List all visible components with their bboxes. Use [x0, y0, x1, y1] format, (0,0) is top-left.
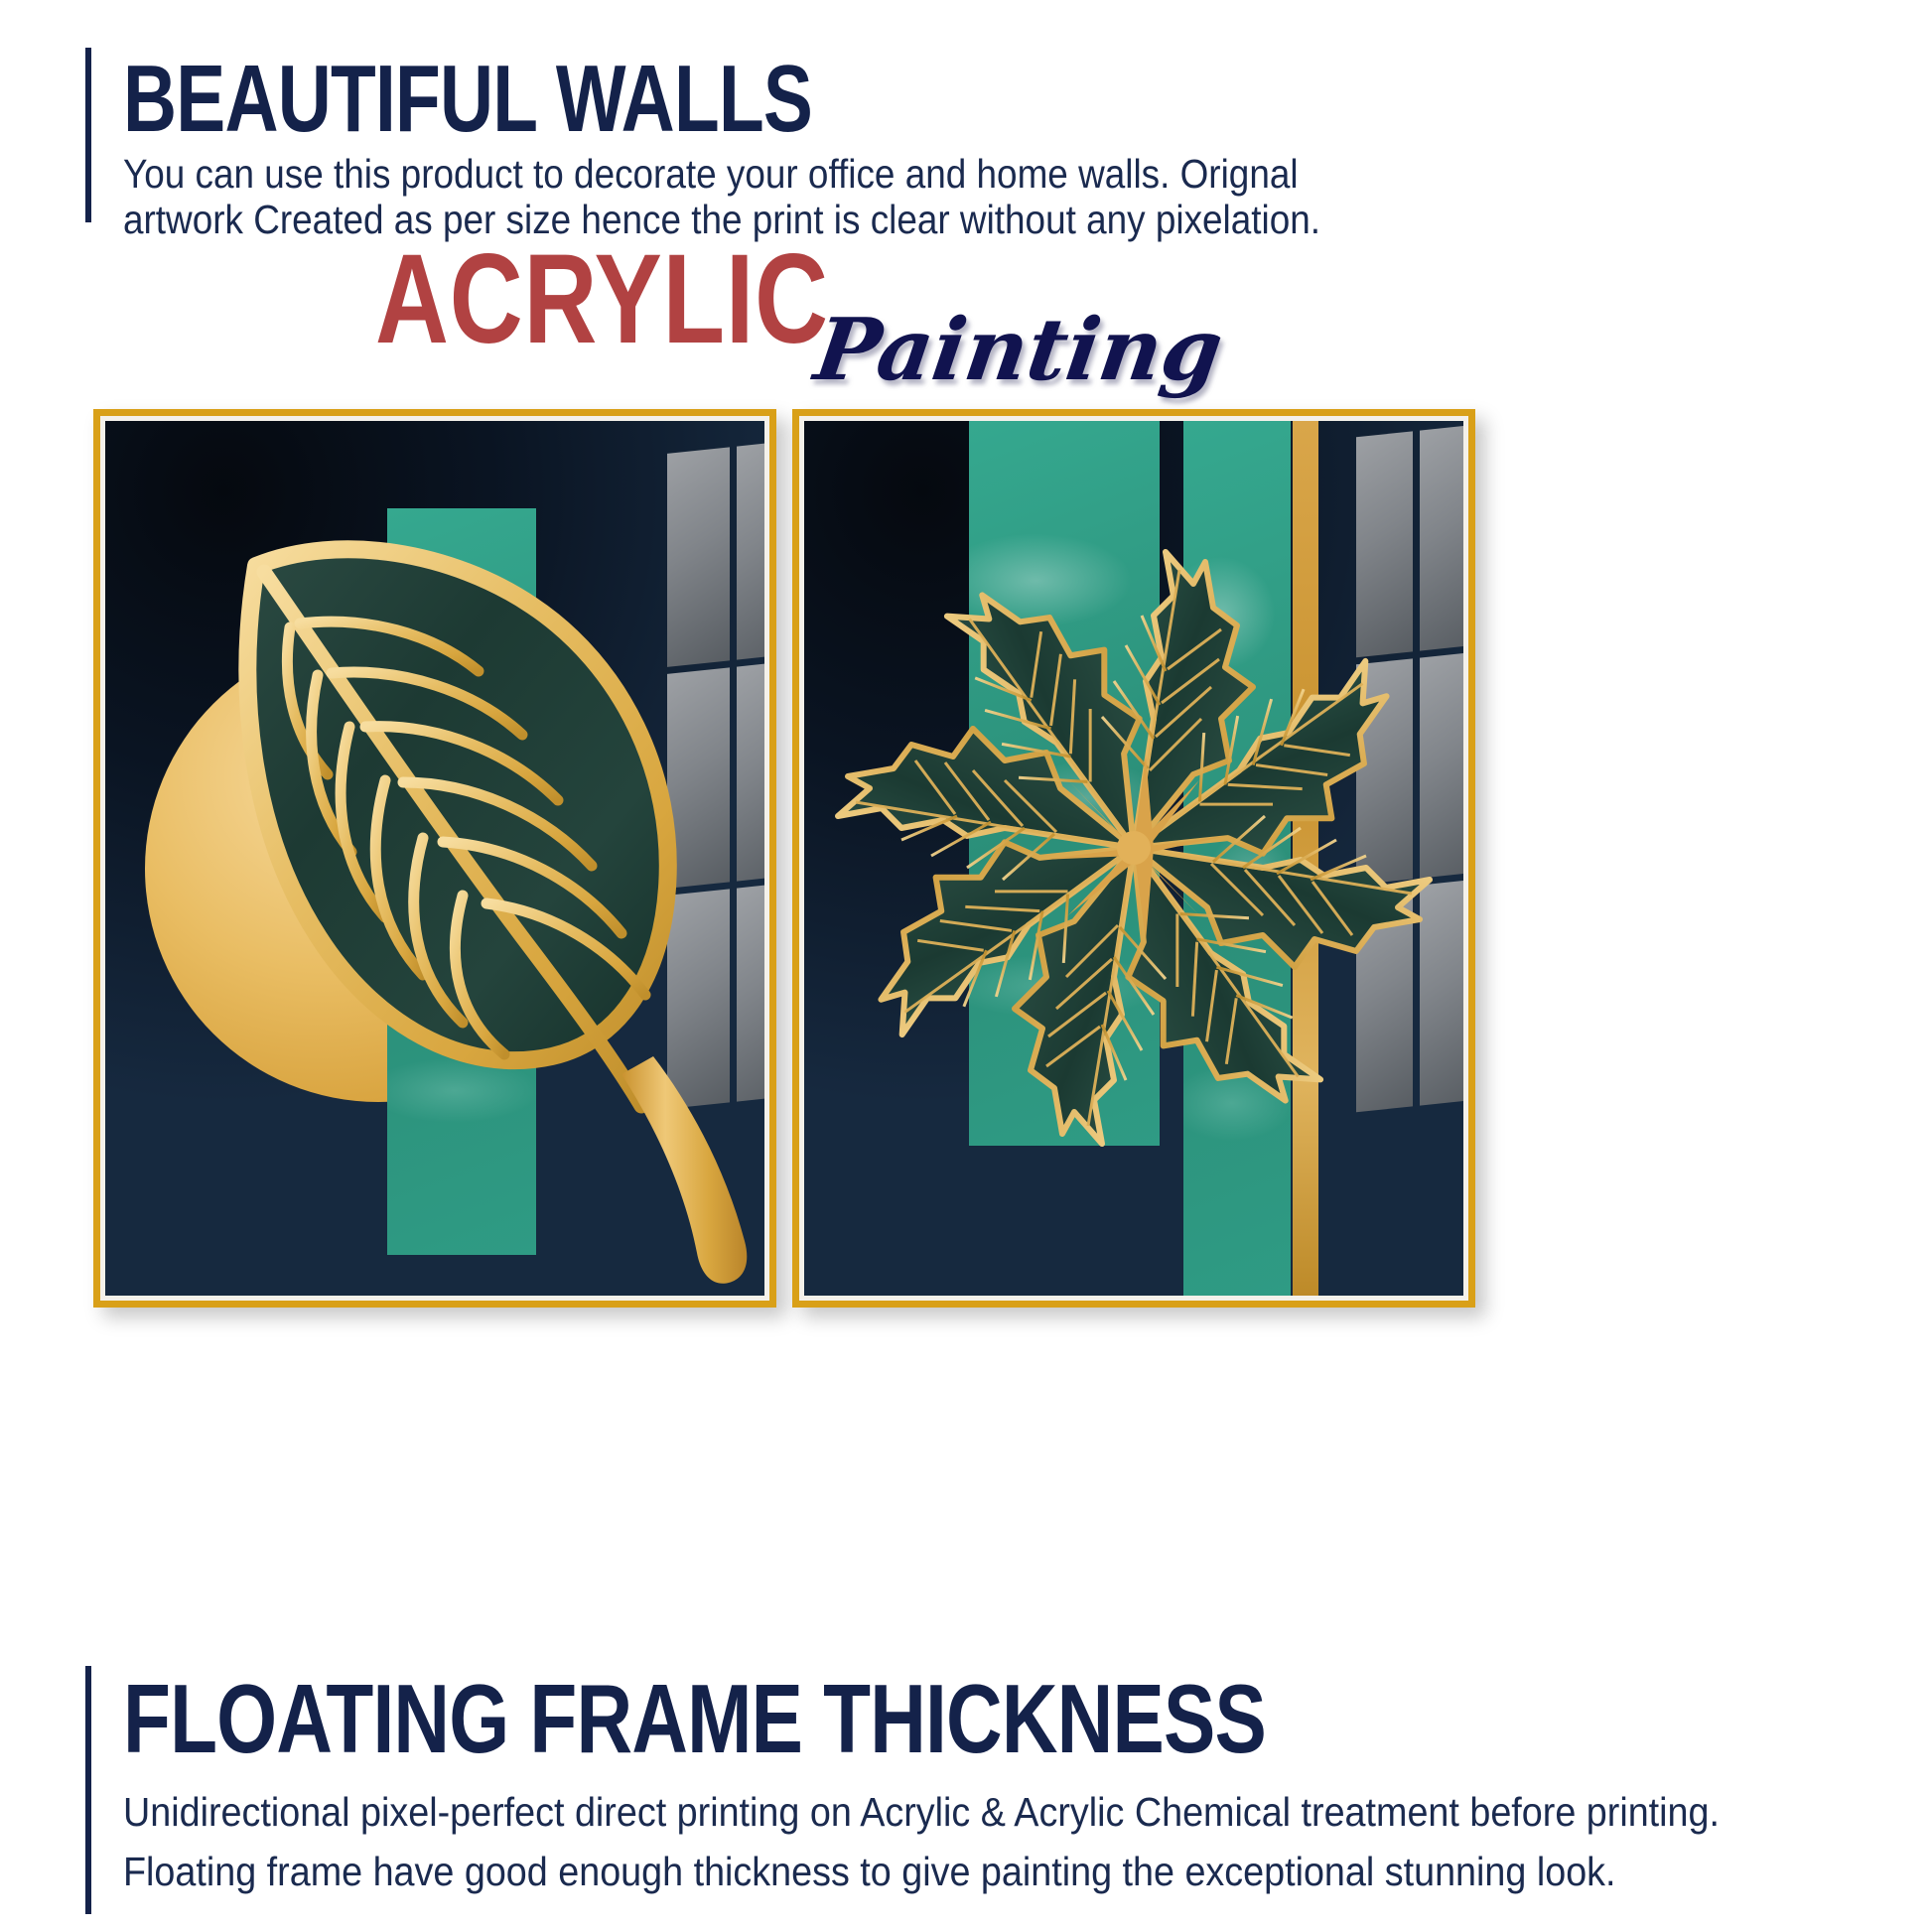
canvas-right: [804, 421, 1463, 1296]
artwork-row: [0, 409, 1932, 1308]
flower-center-starburst: [1040, 755, 1227, 941]
bottom-accent-rule: [85, 1666, 91, 1914]
leaf-stem: [621, 1056, 747, 1284]
bottom-description-line-2: Floating frame have good enough thicknes…: [123, 1849, 1548, 1894]
canvas-left: [105, 421, 764, 1296]
frame-float-gap-right: [799, 416, 1468, 1301]
top-marketing-block: BEAUTIFUL WALLS You can use this product…: [0, 0, 1932, 397]
page-title: BEAUTIFUL WALLS: [123, 52, 812, 147]
bottom-title: FLOATING FRAME THICKNESS: [123, 1670, 1266, 1767]
bottom-marketing-block: FLOATING FRAME THICKNESS Unidirectional …: [0, 1648, 1932, 1932]
bottom-description-line-1: Unidirectional pixel-perfect direct prin…: [123, 1789, 1548, 1835]
framed-artwork-left: [93, 409, 776, 1308]
frame-float-gap-left: [100, 416, 769, 1301]
product-title-main: ACRYLIC: [375, 236, 829, 363]
marble-leaf-artwork: [105, 421, 764, 1296]
product-title-group: ACRYLIC Painting: [0, 236, 1932, 395]
marble-star-flower-artwork: [804, 421, 1463, 1296]
product-title-script: Painting: [810, 308, 1227, 393]
top-accent-rule: [85, 48, 91, 222]
framed-artwork-right: [792, 409, 1475, 1308]
